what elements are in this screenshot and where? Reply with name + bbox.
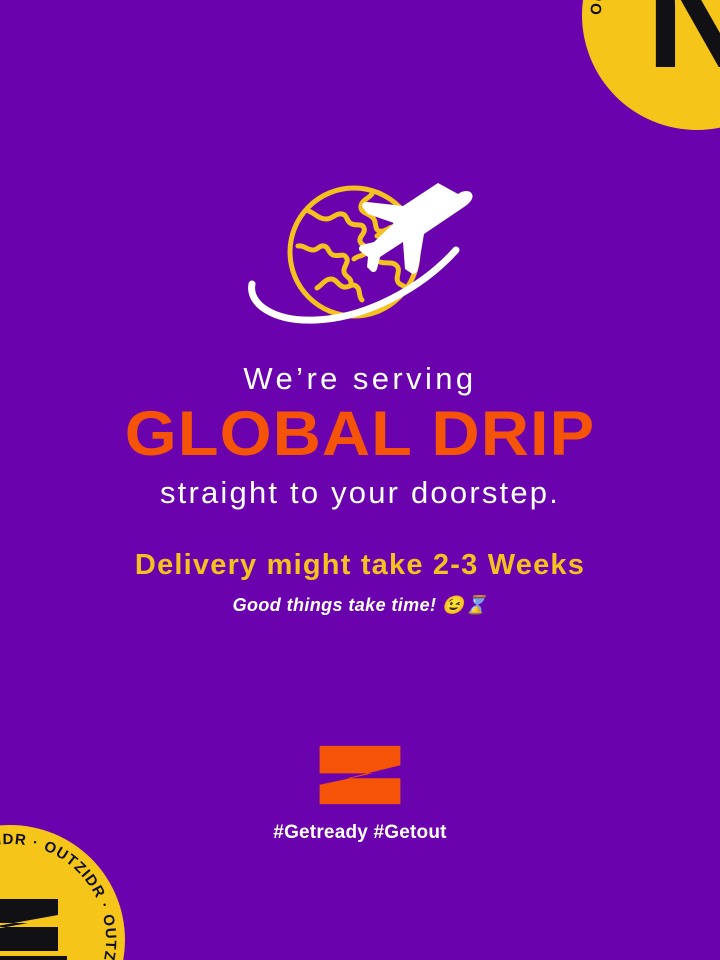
headline-title: GLOBAL DRIP — [0, 397, 720, 471]
globe-illustration — [0, 176, 720, 338]
badge-top-right-core: N — [622, 0, 720, 90]
poster-canvas: OUTZIDR · OUTZIDR · OUTZIDR · OUTZIDR · … — [0, 0, 720, 960]
delivery-tagline: Good things take time! 😉⌛ — [0, 595, 720, 617]
delivery-estimate: Delivery might take 2-3 Weeks — [0, 548, 720, 583]
headline-block: We’re serving GLOBAL DRIP straight to yo… — [0, 362, 720, 510]
headline-subtitle: straight to your doorstep. — [0, 476, 720, 510]
globe-with-airplane-icon — [244, 176, 476, 338]
badge-top-right-letter: N — [646, 0, 720, 75]
footer-hashtags: #Getready #Getout — [273, 822, 446, 845]
delivery-block: Delivery might take 2-3 Weeks Good thing… — [0, 548, 720, 616]
footer-block: #Getready #Getout — [0, 744, 720, 845]
badge-wordmark: OUT IDR — [0, 956, 67, 960]
badge-top-right: OUTZIDR · OUTZIDR · OUTZIDR · OUTZIDR · … — [582, 0, 720, 130]
badge-z-logo-icon — [0, 897, 62, 953]
headline-eyebrow: We’re serving — [0, 362, 720, 395]
badge-bottom-left: OUTZIDR · OUTZIDR · OUTZIDR · OUTZIDR · … — [0, 825, 125, 960]
badge-bottom-left-core: OUT IDR — [0, 865, 85, 960]
brand-z-logo-icon — [318, 744, 402, 806]
